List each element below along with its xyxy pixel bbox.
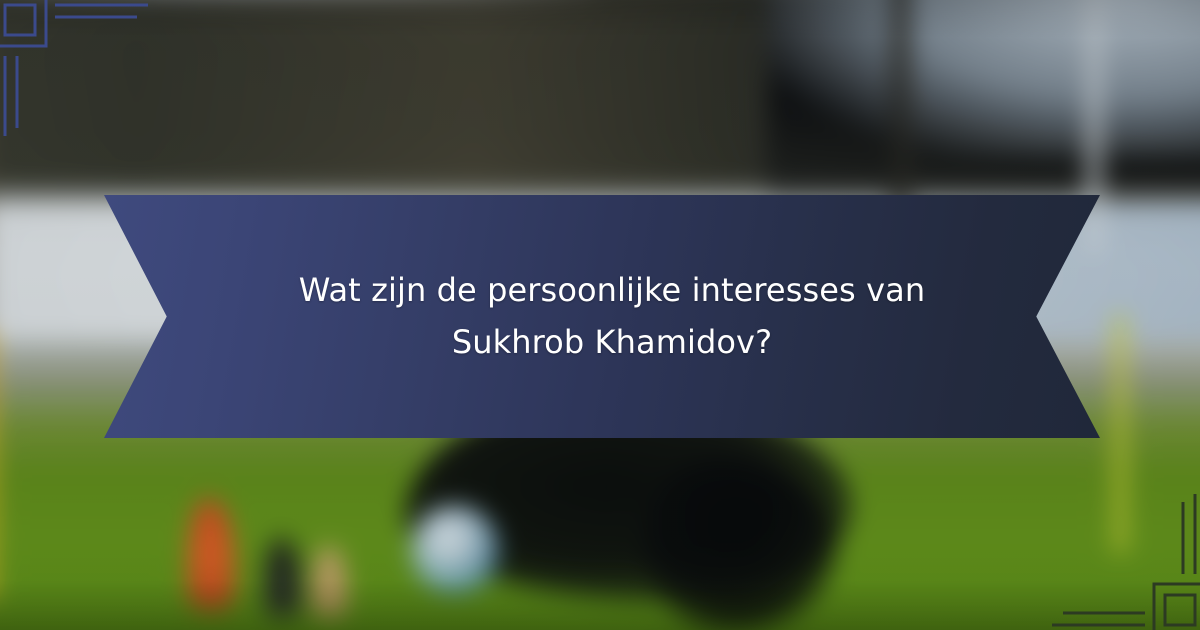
page-title: Wat zijn de persoonlijke interesses van …	[234, 265, 990, 369]
share-card: Wat zijn de persoonlijke interesses van …	[0, 0, 1200, 630]
headline-banner: Wat zijn de persoonlijke interesses van …	[104, 195, 1100, 438]
headline-line-1: Wat zijn de persoonlijke interesses van	[299, 271, 925, 309]
headline-banner-inner: Wat zijn de persoonlijke interesses van …	[104, 265, 1100, 369]
headline-line-2: Sukhrob Khamidov?	[452, 323, 772, 361]
